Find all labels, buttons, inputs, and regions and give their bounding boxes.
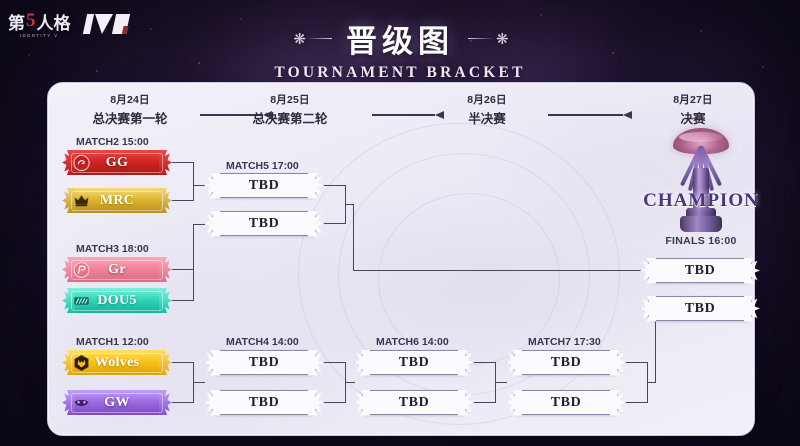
title-cn: 晋级图 xyxy=(346,16,454,61)
connector xyxy=(345,204,354,205)
round-3-date: 8月26日 xyxy=(432,92,542,107)
slot-label: TBD xyxy=(354,390,474,415)
mrc-crown-icon xyxy=(73,192,90,209)
flourish-right-icon: ❋ xyxy=(468,30,507,48)
connector xyxy=(474,402,496,403)
slot-match7-bottom[interactable]: TBD xyxy=(506,390,626,415)
slot-finals-bottom[interactable]: TBD xyxy=(640,296,760,321)
team-pill-gw[interactable]: GW xyxy=(62,390,172,415)
page-title: ❋ 晋级图 ❋ TOURNAMENT BRACKET xyxy=(0,16,800,82)
trophy-icon: CHAMPION xyxy=(655,128,747,232)
team-pill-dou5[interactable]: DOU5 xyxy=(62,288,172,313)
slot-label: TBD xyxy=(506,350,626,375)
team-pill-mrc[interactable]: MRC xyxy=(62,188,172,213)
round-header-1: 8月24日 总决赛第一轮 xyxy=(62,92,198,127)
round-header-4: 8月27日 决赛 xyxy=(638,92,748,127)
team-pill-gg[interactable]: GG xyxy=(62,150,172,175)
round-header-3: 8月26日 半决赛 xyxy=(432,92,542,127)
connector xyxy=(345,382,355,383)
round-3-name: 半决赛 xyxy=(432,108,542,127)
match2-label: MATCH2 15:00 xyxy=(76,136,149,148)
slot-label: TBD xyxy=(506,390,626,415)
finals-label: FINALS 16:00 xyxy=(625,235,777,247)
connector xyxy=(626,362,648,363)
team-pill-gr[interactable]: Gr xyxy=(62,257,172,282)
connector xyxy=(324,223,346,224)
connector xyxy=(172,269,194,270)
slot-match5-bottom[interactable]: TBD xyxy=(204,211,324,236)
slot-label: TBD xyxy=(640,296,760,321)
flourish-left-icon: ❋ xyxy=(293,30,332,48)
gg-emblem-icon xyxy=(73,154,90,171)
match3-label: MATCH3 18:00 xyxy=(76,243,149,255)
slot-label: TBD xyxy=(204,350,324,375)
dou5-emblem-icon xyxy=(73,292,90,309)
round-2-date: 8月25日 xyxy=(222,92,358,107)
slot-finals-top[interactable]: TBD xyxy=(640,258,760,283)
connector xyxy=(172,200,194,201)
connector xyxy=(324,185,346,186)
slot-match6-top[interactable]: TBD xyxy=(354,350,474,375)
slot-match4-bottom[interactable]: TBD xyxy=(204,390,324,415)
match5-label: MATCH5 17:00 xyxy=(226,160,299,172)
team-pill-wolves[interactable]: Wolves xyxy=(62,350,172,375)
connector xyxy=(626,402,648,403)
connector xyxy=(193,224,194,301)
slot-label: TBD xyxy=(354,350,474,375)
connector xyxy=(172,362,194,363)
round-1-date: 8月24日 xyxy=(62,92,198,107)
round-2-name: 总决赛第二轮 xyxy=(222,108,358,127)
connector xyxy=(647,382,656,383)
slot-match6-bottom[interactable]: TBD xyxy=(354,390,474,415)
match1-label: MATCH1 12:00 xyxy=(76,336,149,348)
round-4-date: 8月27日 xyxy=(638,92,748,107)
match6-label: MATCH6 14:00 xyxy=(376,336,449,348)
round-4-name: 决赛 xyxy=(638,108,748,127)
connector xyxy=(193,382,205,383)
connector xyxy=(474,362,496,363)
wolves-head-icon xyxy=(73,354,90,371)
round-arrow-3 xyxy=(548,110,632,120)
connector xyxy=(193,162,194,201)
match4-label: MATCH4 14:00 xyxy=(226,336,299,348)
slot-match5-top[interactable]: TBD xyxy=(204,173,324,198)
title-en: TOURNAMENT BRACKET xyxy=(0,64,800,82)
connector xyxy=(353,204,354,271)
slot-label: TBD xyxy=(640,258,760,283)
round-header-2: 8月25日 总决赛第二轮 xyxy=(222,92,358,127)
connector xyxy=(172,300,194,301)
connector xyxy=(324,402,346,403)
connector xyxy=(172,162,194,163)
slot-match4-top[interactable]: TBD xyxy=(204,350,324,375)
gw-emblem-icon xyxy=(73,394,90,411)
slot-label: TBD xyxy=(204,390,324,415)
connector xyxy=(172,402,194,403)
connector xyxy=(324,362,346,363)
champion-block: CHAMPION FINALS 16:00 xyxy=(625,128,777,247)
match7-label: MATCH7 17:30 xyxy=(528,336,601,348)
slot-label: TBD xyxy=(204,173,324,198)
slot-match7-top[interactable]: TBD xyxy=(506,350,626,375)
connector xyxy=(495,382,507,383)
gr-emblem-icon xyxy=(73,261,90,278)
champion-label: CHAMPION xyxy=(643,190,759,212)
round-1-name: 总决赛第一轮 xyxy=(62,108,198,127)
connector xyxy=(353,270,641,271)
slot-label: TBD xyxy=(204,211,324,236)
